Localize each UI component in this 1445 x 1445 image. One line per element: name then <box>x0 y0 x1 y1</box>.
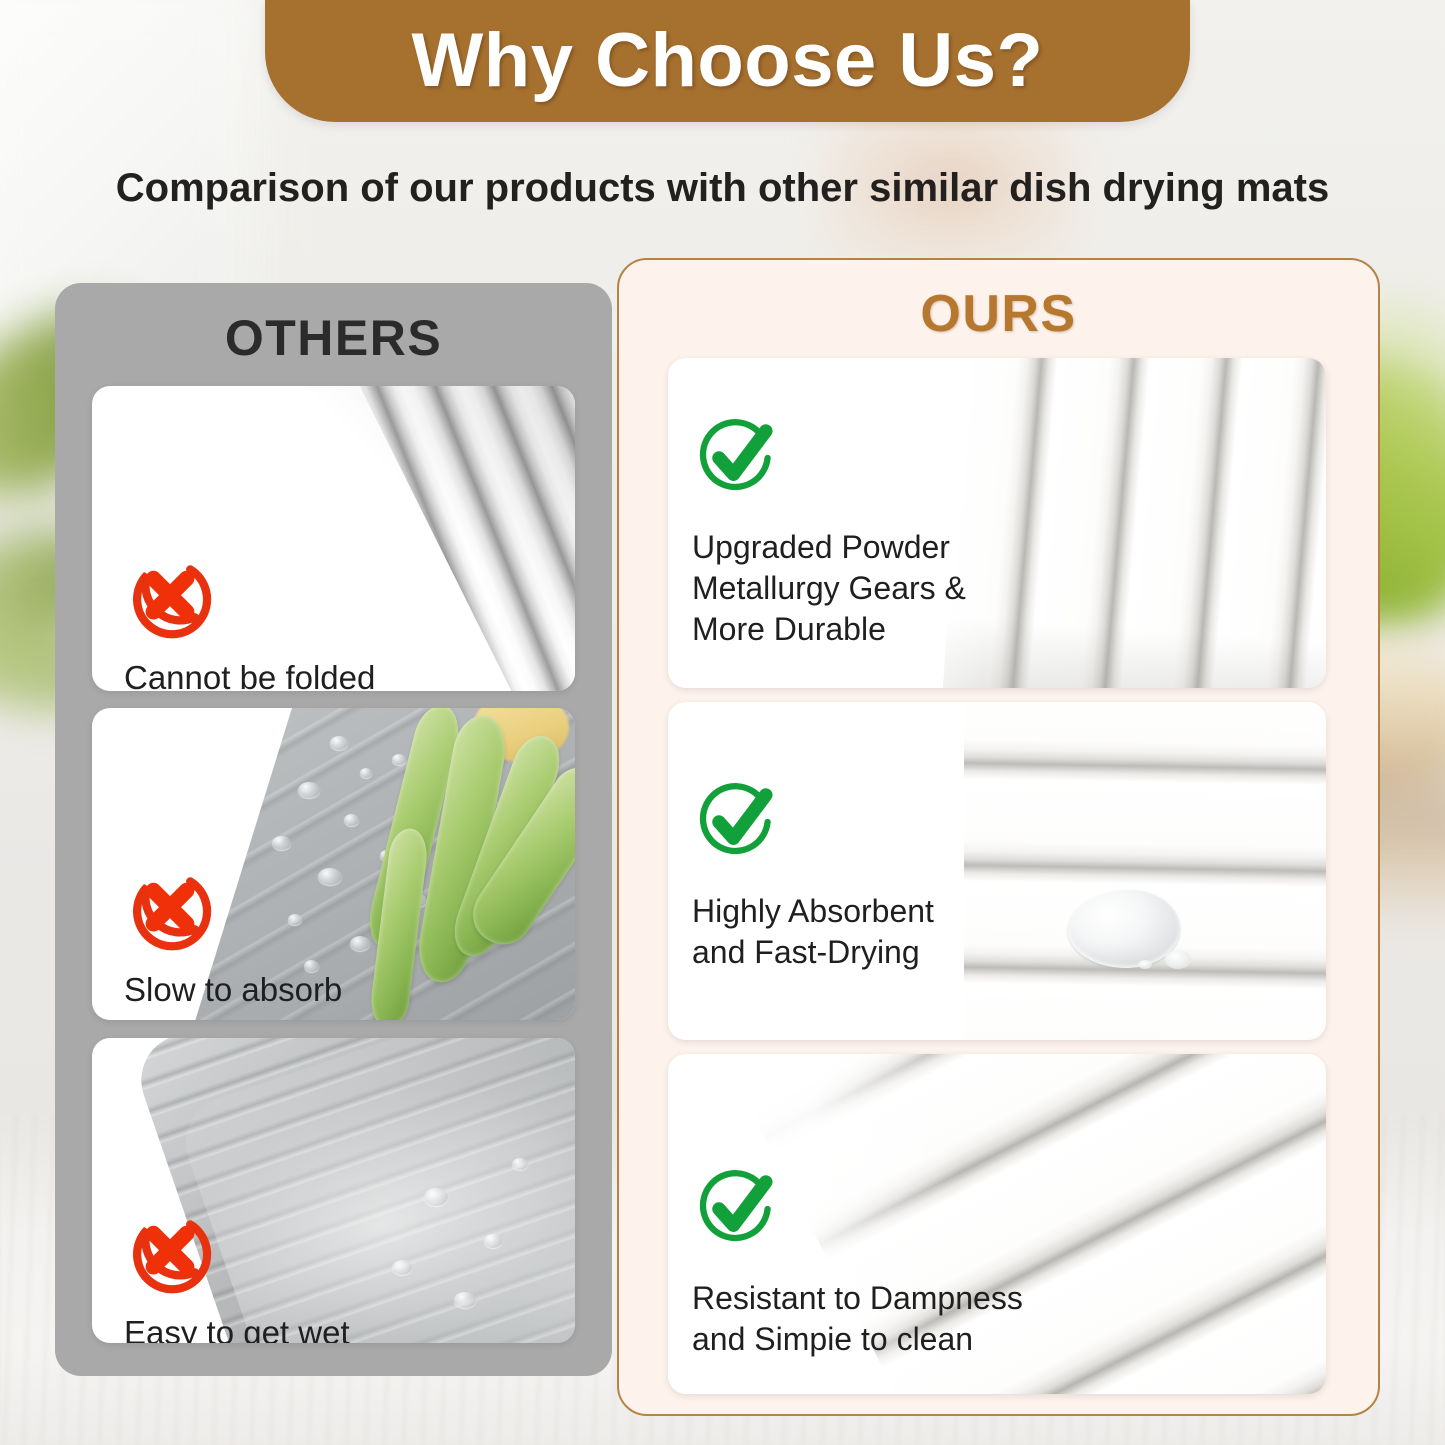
water-droplet <box>484 1234 502 1248</box>
cross-circle-icon <box>124 551 216 643</box>
others-card-2-label: Slow to absorb water <box>124 969 342 1020</box>
ours-card-1-body: Upgraded Powder Metallurgy Gears & More … <box>692 413 966 650</box>
white-horizontal-slats <box>964 702 1326 1040</box>
others-card-1-label: Cannot be folded <box>124 657 375 691</box>
ours-card-highly-absorbent-fast-drying: Highly Absorbent and Fast-Drying <box>668 702 1326 1040</box>
water-droplet-tiny <box>1138 960 1152 969</box>
others-card-1-body: Cannot be folded <box>124 551 375 691</box>
others-card-cannot-be-folded: Cannot be folded <box>92 386 575 691</box>
ours-heading: OURS <box>619 284 1378 344</box>
water-droplet <box>454 1292 476 1308</box>
cross-circle-icon <box>124 863 216 955</box>
water-droplet <box>512 1158 528 1170</box>
others-card-2-body: Slow to absorb water <box>124 863 342 1020</box>
water-droplet <box>330 736 348 750</box>
subtitle: Comparison of our products with other si… <box>0 165 1445 211</box>
water-droplet <box>424 1188 448 1206</box>
water-droplet <box>392 1260 412 1275</box>
water-droplet <box>272 836 291 850</box>
others-card-easy-to-get-wet: Easy to get wet <box>92 1038 575 1343</box>
check-circle-icon <box>692 1164 782 1254</box>
water-droplet <box>1068 890 1180 968</box>
title-banner: Why Choose Us? <box>265 0 1190 122</box>
ours-card-2-body: Highly Absorbent and Fast-Drying <box>692 777 934 973</box>
ours-card-3-label: Resistant to Dampness and Simpie to clea… <box>692 1278 1023 1360</box>
water-droplet-small <box>1165 950 1191 969</box>
check-circle-icon <box>692 777 782 867</box>
ours-card-2-label: Highly Absorbent and Fast-Drying <box>692 891 934 973</box>
page-title: Why Choose Us? <box>265 23 1190 99</box>
others-card-slow-to-absorb-water: Slow to absorb water <box>92 708 575 1020</box>
white-vertical-slats-shadow <box>940 358 1326 688</box>
ours-card-1-label: Upgraded Powder Metallurgy Gears & More … <box>692 527 966 650</box>
ours-card-upgraded-powder-metallurgy-gears: Upgraded Powder Metallurgy Gears & More … <box>668 358 1326 688</box>
ours-card-3-body: Resistant to Dampness and Simpie to clea… <box>692 1164 1023 1360</box>
water-droplet <box>392 754 406 765</box>
others-card-3-body: Easy to get wet <box>124 1206 350 1343</box>
water-droplet <box>350 936 370 951</box>
cross-circle-icon <box>124 1206 216 1298</box>
check-circle-icon <box>692 413 782 503</box>
others-heading: OTHERS <box>55 309 612 367</box>
ours-card-resistant-to-dampness: Resistant to Dampness and Simpie to clea… <box>668 1054 1326 1394</box>
water-droplet <box>298 782 320 798</box>
water-droplet <box>360 768 372 778</box>
others-card-3-label: Easy to get wet <box>124 1312 350 1343</box>
water-droplet <box>344 814 359 826</box>
